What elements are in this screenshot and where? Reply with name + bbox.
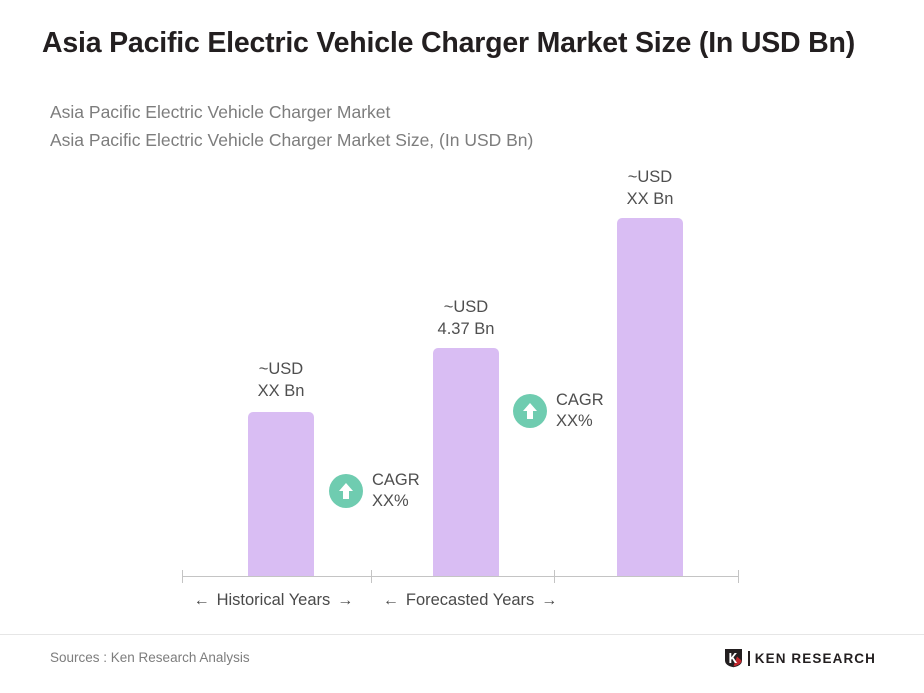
x-axis-line	[182, 576, 738, 577]
axis-tick-start	[182, 570, 183, 583]
bar-label-base: ~USD 4.37 Bn	[406, 296, 526, 340]
cagr-text-2: CAGR XX%	[556, 390, 604, 432]
period-label-forecasted: ← Forecasted Years →	[365, 591, 738, 610]
arrow-up-icon	[513, 394, 547, 428]
cagr-text-1: CAGR XX%	[372, 470, 420, 512]
bar-label-historical-line2: XX Bn	[221, 380, 341, 402]
cagr-text-2-line1: CAGR	[556, 390, 604, 411]
ken-research-logo: KEN RESEARCH	[724, 648, 876, 668]
cagr-annotation-2: CAGR XX%	[513, 390, 604, 432]
bar-label-base-line1: ~USD	[406, 296, 526, 318]
period-label-forecasted-text: Forecasted Years	[406, 591, 534, 610]
axis-tick-end	[738, 570, 739, 583]
period-label-historical-text: Historical Years	[217, 591, 331, 610]
arrow-right-icon: →	[541, 592, 557, 610]
bar-label-historical: ~USD XX Bn	[221, 358, 341, 402]
bar-label-forecast-line1: ~USD	[590, 166, 710, 188]
bar-forecast[interactable]	[617, 218, 683, 576]
axis-tick-mid-1	[371, 570, 372, 583]
axis-tick-mid-2	[554, 570, 555, 583]
arrow-up-icon	[329, 474, 363, 508]
footer-divider	[0, 634, 924, 635]
bar-label-forecast: ~USD XX Bn	[590, 166, 710, 210]
arrow-left-icon: ←	[383, 592, 399, 610]
cagr-text-2-line2: XX%	[556, 411, 604, 432]
logo-wordmark: KEN RESEARCH	[755, 651, 876, 666]
bar-label-base-line2: 4.37 Bn	[406, 318, 526, 340]
source-note: Sources : Ken Research Analysis	[50, 650, 250, 665]
bar-historical[interactable]	[248, 412, 314, 576]
cagr-annotation-1: CAGR XX%	[329, 470, 420, 512]
shield-logo-icon	[724, 648, 743, 668]
cagr-text-1-line2: XX%	[372, 491, 420, 512]
logo-divider	[748, 651, 750, 666]
bar-base[interactable]	[433, 348, 499, 576]
cagr-text-1-line1: CAGR	[372, 470, 420, 491]
arrow-right-icon: →	[337, 592, 353, 610]
period-label-historical: ← Historical Years →	[182, 591, 365, 610]
bar-label-historical-line1: ~USD	[221, 358, 341, 380]
period-label-row: ← Historical Years → ← Forecasted Years …	[182, 591, 738, 610]
arrow-left-icon: ←	[194, 592, 210, 610]
bar-chart: ~USD XX Bn ~USD 4.37 Bn ~USD XX Bn CAGR …	[0, 0, 924, 693]
bar-label-forecast-line2: XX Bn	[590, 188, 710, 210]
slide-canvas: Asia Pacific Electric Vehicle Charger Ma…	[0, 0, 924, 693]
